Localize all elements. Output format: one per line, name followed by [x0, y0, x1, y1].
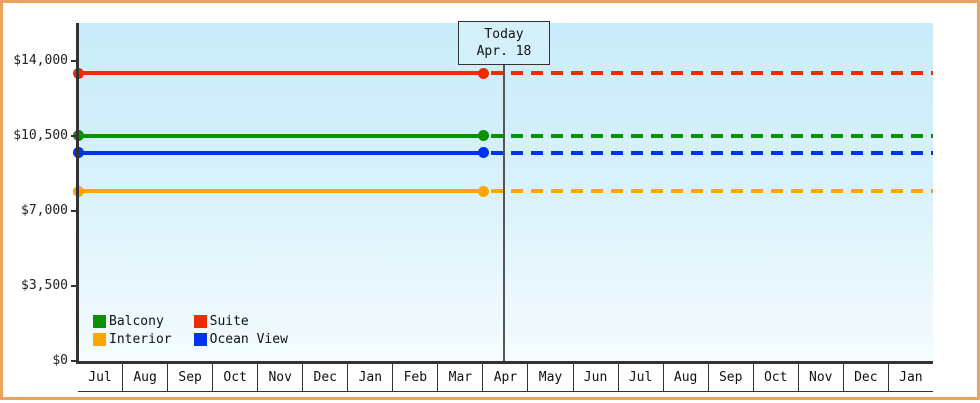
legend-swatch-icon	[93, 333, 106, 346]
x-axis-month-mar-8[interactable]: Mar	[438, 364, 483, 392]
y-axis-line	[76, 23, 79, 363]
today-label: Today	[484, 26, 523, 43]
y-axis-label: $14,000	[13, 54, 68, 67]
chart-legend: BalconySuiteInteriorOcean View	[93, 315, 288, 346]
x-axis-month-dec-5[interactable]: Dec	[303, 364, 348, 392]
x-axis-month-dec-17[interactable]: Dec	[844, 364, 889, 392]
series-line-dashed-ocean-view	[491, 151, 933, 155]
x-axis-month-feb-7[interactable]: Feb	[393, 364, 438, 392]
x-axis-month-jan-18[interactable]: Jan	[889, 364, 933, 392]
series-line-dashed-interior	[491, 189, 933, 193]
legend-label: Interior	[109, 333, 172, 346]
legend-label: Ocean View	[210, 333, 288, 346]
today-callout-stem	[503, 65, 505, 79]
x-axis-month-apr-9[interactable]: Apr	[483, 364, 528, 392]
x-axis-month-jan-6[interactable]: Jan	[348, 364, 393, 392]
series-today-dot-suite	[478, 68, 489, 79]
today-callout-box: Today Apr. 18	[458, 21, 550, 65]
legend-swatch-icon	[93, 315, 106, 328]
series-line-solid-ocean-view	[78, 151, 483, 155]
x-axis-month-jul-12[interactable]: Jul	[619, 364, 664, 392]
x-axis-month-cells: JulAugSepOctNovDecJanFebMarAprMayJunJulA…	[78, 364, 933, 392]
y-axis-label: $0	[52, 354, 68, 367]
series-line-dashed-balcony	[491, 134, 933, 138]
legend-item-ocean-view[interactable]: Ocean View	[194, 333, 288, 346]
x-axis-month-sep-2[interactable]: Sep	[168, 364, 213, 392]
today-date: Apr. 18	[477, 43, 532, 60]
y-axis-tick	[71, 135, 79, 137]
x-axis-month-nov-4[interactable]: Nov	[258, 364, 303, 392]
x-axis-month-oct-3[interactable]: Oct	[213, 364, 258, 392]
x-axis-month-nov-16[interactable]: Nov	[799, 364, 844, 392]
legend-swatch-icon	[194, 333, 207, 346]
y-axis-label: $10,500	[13, 129, 68, 142]
legend-item-interior[interactable]: Interior	[93, 333, 172, 346]
x-axis-month-jul-0[interactable]: Jul	[78, 364, 123, 392]
chart-canvas: $14,000$10,500$7,000$3,500$0 JulAugSepOc…	[3, 3, 980, 403]
y-axis-label: $3,500	[21, 279, 68, 292]
x-axis-month-aug-1[interactable]: Aug	[123, 364, 168, 392]
legend-label: Balcony	[109, 315, 164, 328]
y-axis-tick	[71, 285, 79, 287]
series-line-solid-balcony	[78, 134, 483, 138]
x-axis-month-aug-13[interactable]: Aug	[664, 364, 709, 392]
chart-frame: $14,000$10,500$7,000$3,500$0 JulAugSepOc…	[0, 0, 980, 400]
x-axis-month-jun-11[interactable]: Jun	[574, 364, 619, 392]
legend-item-suite[interactable]: Suite	[194, 315, 288, 328]
series-line-solid-suite	[78, 71, 483, 75]
y-axis-tick	[71, 210, 79, 212]
legend-swatch-icon	[194, 315, 207, 328]
x-axis-month-may-10[interactable]: May	[528, 364, 573, 392]
series-line-dashed-suite	[491, 71, 933, 75]
legend-item-balcony[interactable]: Balcony	[93, 315, 172, 328]
y-axis-label: $7,000	[21, 204, 68, 217]
x-axis-month-oct-15[interactable]: Oct	[754, 364, 799, 392]
x-axis-month-sep-14[interactable]: Sep	[709, 364, 754, 392]
series-today-dot-interior	[478, 186, 489, 197]
legend-label: Suite	[210, 315, 249, 328]
series-line-solid-interior	[78, 189, 483, 193]
y-axis-tick	[71, 60, 79, 62]
